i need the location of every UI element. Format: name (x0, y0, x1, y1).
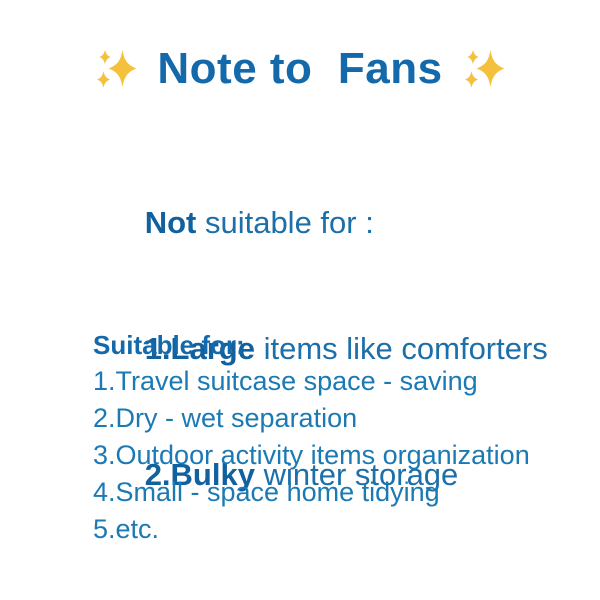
suitable-section: Suitable for: 1.Travel suitcase space - … (93, 327, 530, 548)
not-suitable-heading-rest: suitable for : (196, 205, 373, 240)
not-suitable-heading: Not suitable for : (93, 160, 548, 286)
not-suitable-heading-bold: Not (145, 205, 197, 240)
list-item: 4.Small - space home tidying (93, 474, 530, 511)
list-item: 2.Dry - wet separation (93, 400, 530, 437)
poster-title-row: Note to Fans (0, 44, 600, 94)
suitable-heading: Suitable for: (93, 327, 530, 363)
list-item: 5.etc. (93, 511, 530, 548)
list-item: 1.Travel suitcase space - saving (93, 363, 530, 400)
sparkles-icon (91, 44, 141, 94)
suitable-list: 1.Travel suitcase space - saving 2.Dry -… (93, 363, 530, 548)
page-title: Note to Fans (157, 46, 442, 92)
note-to-fans-poster: Note to Fans Not suitable for : 1.Large … (0, 0, 600, 600)
list-item: 3.Outdoor activity items organization (93, 437, 530, 474)
sparkles-icon (459, 44, 509, 94)
